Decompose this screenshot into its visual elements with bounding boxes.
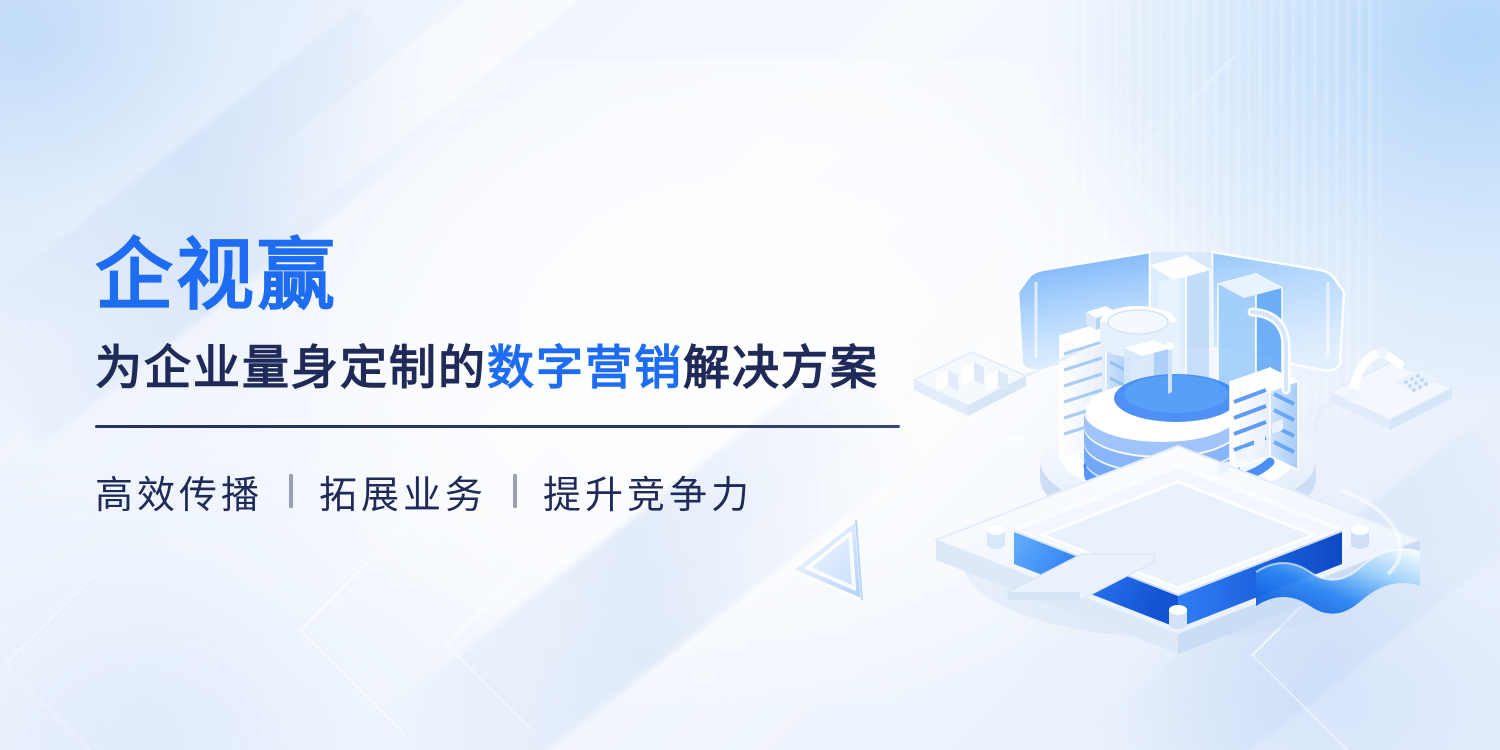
corner-pin-right — [1351, 525, 1369, 549]
headline-highlight: 数字营销 — [487, 341, 683, 394]
feature-separator-1 — [289, 474, 293, 508]
divider-line — [95, 425, 900, 428]
brand-title: 企视赢 — [95, 236, 915, 314]
headline: 为企业量身定制的数字营销解决方案 — [95, 342, 915, 395]
headline-suffix: 解决方案 — [683, 341, 879, 394]
marketing-banner: 企视赢 为企业量身定制的数字营销解决方案 高效传播 拓展业务 提升竞争力 — [0, 0, 1500, 750]
feature-separator-2 — [513, 474, 517, 508]
isometric-city-platform-illustration — [900, 230, 1460, 660]
feature-item-1: 高效传播 — [95, 464, 263, 519]
feature-item-3: 提升竞争力 — [543, 464, 753, 519]
feature-list: 高效传播 拓展业务 提升竞争力 — [95, 464, 915, 519]
bg-chevron-2 — [445, 560, 615, 730]
headline-prefix: 为企业量身定制的 — [95, 341, 487, 394]
bg-chevron-1 — [299, 524, 511, 736]
corner-pin-front — [1169, 605, 1187, 629]
platform-base — [936, 419, 1420, 654]
feature-item-2: 拓展业务 — [319, 464, 487, 519]
glass-triangle-icon — [784, 512, 888, 608]
corner-pin-left — [987, 525, 1005, 549]
bg-chevron-4 — [3, 573, 187, 750]
bg-diagonal-band-1 — [233, 0, 828, 238]
banner-text-block: 企视赢 为企业量身定制的数字营销解决方案 高效传播 拓展业务 提升竞争力 — [95, 236, 915, 519]
